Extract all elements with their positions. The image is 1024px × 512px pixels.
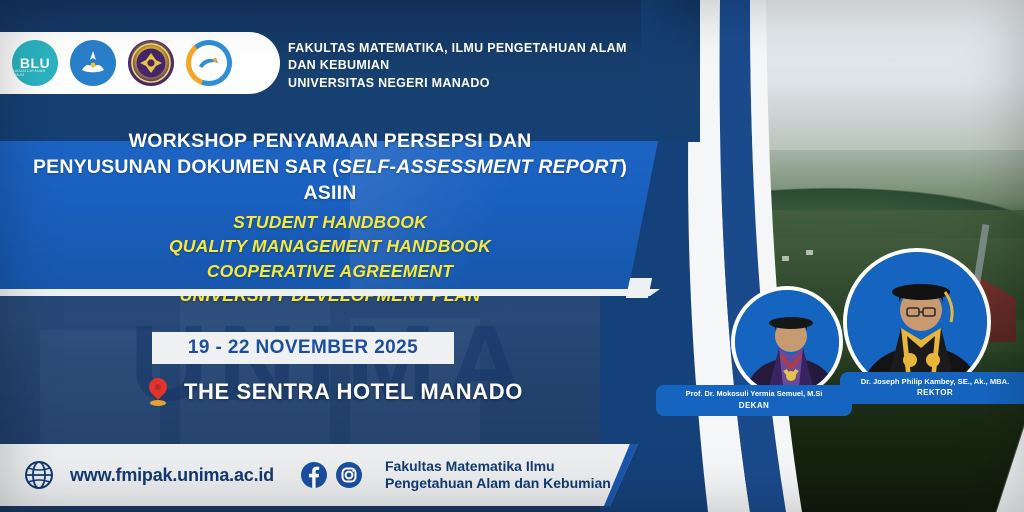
globe-icon xyxy=(24,460,54,490)
facebook-icon[interactable] xyxy=(300,461,328,489)
social-icons xyxy=(300,461,363,489)
blu-logo: BLU BADAN LAYANAN UMUM xyxy=(12,40,58,86)
title-highlight-3: COOPERATIVE AGREEMENT xyxy=(207,260,453,283)
social-handle: Fakultas Matematika Ilmu Pengetahuan Ala… xyxy=(385,458,611,493)
title-line-1: WORKSHOP PENYAMAAN PERSEPSI DAN xyxy=(129,129,532,154)
pin-base xyxy=(150,400,166,406)
title-line-2-italic: SELF-ASSESSMENT REPORT xyxy=(339,156,620,178)
caption-dekan: Prof. Dr. Mokosuli Yermia Semuel, M.Si D… xyxy=(656,385,852,416)
tut-wuri-icon xyxy=(76,46,110,80)
banner-corner-tab xyxy=(626,278,652,298)
website-url[interactable]: www.fmipak.unima.ac.id xyxy=(70,465,274,486)
instagram-icon[interactable] xyxy=(335,461,363,489)
footer-bar: www.fmipak.unima.ac.id Fakultas Matemati… xyxy=(0,444,638,506)
location-pin-icon xyxy=(148,378,168,406)
tut-wuri-handayani-logo xyxy=(70,40,116,86)
institution-line-3: UNIVERSITAS NEGERI MANADO xyxy=(288,75,627,92)
blu-logo-sublabel: BADAN LAYANAN UMUM xyxy=(12,69,58,77)
rektor-role: REKTOR xyxy=(848,387,1022,399)
title-line-2: PENYUSUNAN DOKUMEN SAR (SELF-ASSESSMENT … xyxy=(10,155,650,206)
event-venue-row: THE SENTRA HOTEL MANADO xyxy=(148,378,523,406)
title-highlight-1: STUDENT HANDBOOK xyxy=(233,211,427,234)
caption-rektor: Dr. Joseph Philip Kambey, SE., Ak., MBA.… xyxy=(840,372,1024,404)
institution-line-1: FAKULTAS MATEMATIKA, ILMU PENGETAHUAN AL… xyxy=(288,40,627,57)
social-line-1: Fakultas Matematika Ilmu xyxy=(385,458,611,476)
event-venue: THE SENTRA HOTEL MANADO xyxy=(184,379,523,405)
poster-canvas: UNIMA BLU BADAN LAYANAN UMUM xyxy=(0,0,1024,512)
unima-crest-icon xyxy=(131,43,171,83)
dekan-name: Prof. Dr. Mokosuli Yermia Semuel, M.Si xyxy=(664,389,844,400)
pin-hole xyxy=(155,384,161,390)
event-date: 19 - 22 NOVEMBER 2025 xyxy=(188,337,418,359)
merdeka-inner xyxy=(191,45,227,81)
title-line-2-prefix: PENYUSUNAN DOKUMEN SAR ( xyxy=(33,156,339,178)
institution-line-2: DAN KEBUMIAN xyxy=(288,57,627,74)
merdeka-belajar-logo xyxy=(186,40,232,86)
logo-strip: BLU BADAN LAYANAN UMUM xyxy=(0,32,280,94)
unima-crest-logo xyxy=(128,40,174,86)
portrait-dekan xyxy=(731,286,843,398)
title-highlight-2: QUALITY MANAGEMENT HANDBOOK xyxy=(169,235,491,258)
event-date-band: 19 - 22 NOVEMBER 2025 xyxy=(152,332,454,364)
banner-bottom-edge xyxy=(0,289,660,296)
institution-title: FAKULTAS MATEMATIKA, ILMU PENGETAHUAN AL… xyxy=(288,40,627,92)
dekan-role: DEKAN xyxy=(664,400,844,412)
rektor-name: Dr. Joseph Philip Kambey, SE., Ak., MBA. xyxy=(848,376,1022,387)
social-line-2: Pengetahuan Alam dan Kebumian xyxy=(385,475,611,493)
merdeka-bird-icon xyxy=(197,52,221,74)
title-text-group: WORKSHOP PENYAMAAN PERSEPSI DAN PENYUSUN… xyxy=(10,141,650,291)
